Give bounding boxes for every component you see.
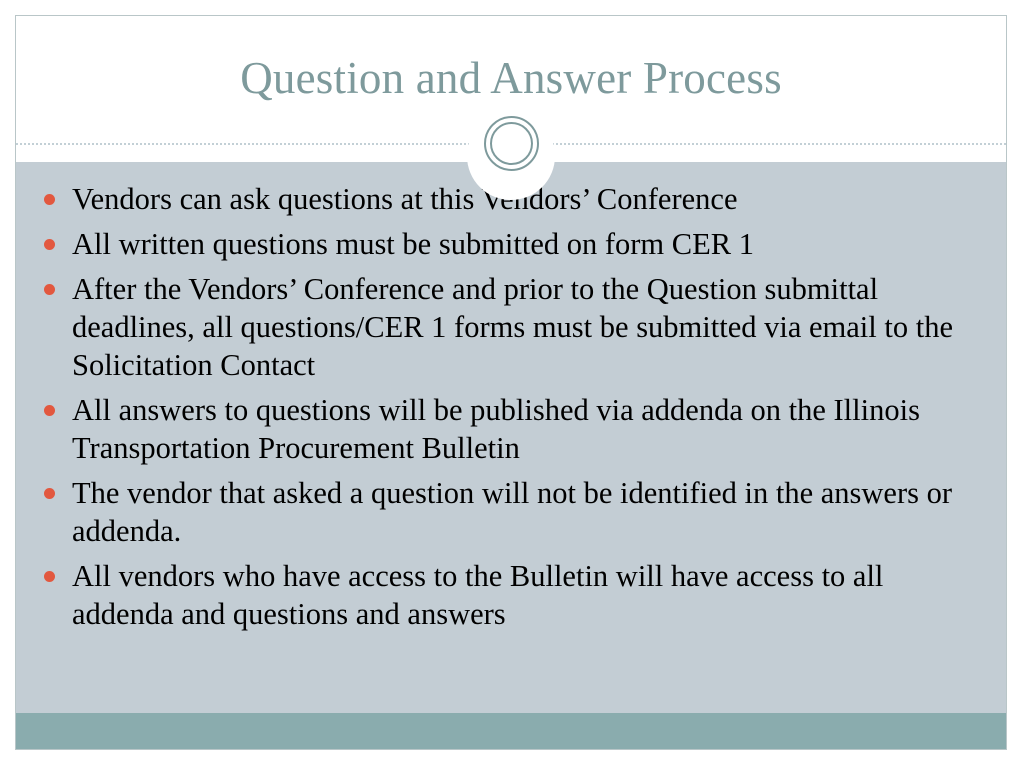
bullet-dot-icon [44, 488, 55, 499]
list-item-label: All vendors who have access to the Bulle… [72, 557, 980, 633]
bullet-dot-icon [44, 284, 55, 295]
list-item: All answers to questions will be publish… [44, 391, 980, 467]
list-item: All written questions must be submitted … [44, 225, 980, 263]
bullet-dot-icon [44, 571, 55, 582]
list-item-label: All written questions must be submitted … [72, 225, 980, 263]
bullet-dot-icon [44, 405, 55, 416]
list-item: After the Vendors’ Conference and prior … [44, 270, 980, 384]
slide-title: Question and Answer Process [16, 52, 1006, 104]
bullet-dot-icon [44, 239, 55, 250]
bullet-list: Vendors can ask questions at this Vendor… [44, 180, 980, 640]
list-item-label: After the Vendors’ Conference and prior … [72, 270, 980, 384]
list-item-label: The vendor that asked a question will no… [72, 474, 980, 550]
list-item: The vendor that asked a question will no… [44, 474, 980, 550]
slide-body: Vendors can ask questions at this Vendor… [16, 162, 1006, 713]
list-item-label: All answers to questions will be publish… [72, 391, 980, 467]
presentation-slide: Question and Answer Process Vendors can … [15, 15, 1007, 750]
footer-accent-bar [16, 713, 1006, 749]
circle-ornament-icon [484, 116, 539, 171]
bullet-dot-icon [44, 194, 55, 205]
list-item: All vendors who have access to the Bulle… [44, 557, 980, 633]
